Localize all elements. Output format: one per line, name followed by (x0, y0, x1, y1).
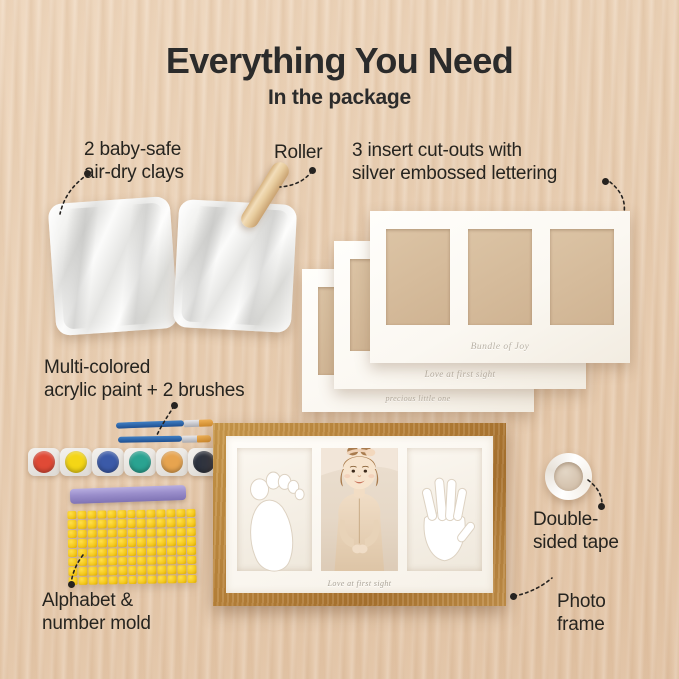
insert-emboss-text: Love at first sight (334, 369, 586, 379)
paint-brush-2 (118, 435, 214, 443)
double-sided-tape-roll (545, 453, 592, 500)
footprint-icon (237, 448, 312, 586)
mold-piece (137, 547, 146, 556)
mold-piece (188, 575, 197, 584)
mold-piece (88, 539, 97, 548)
mold-piece (88, 576, 97, 585)
mold-piece (128, 557, 137, 566)
mold-piece (157, 528, 166, 537)
brush-ferrule (184, 419, 200, 427)
mold-piece (108, 548, 117, 557)
mold-piece (177, 528, 186, 537)
mold-piece (87, 511, 96, 520)
mold-piece (137, 529, 146, 538)
mold-piece (98, 557, 107, 566)
mold-piece (107, 520, 116, 529)
mold-piece (187, 565, 196, 574)
mold-piece (127, 519, 136, 528)
mold-piece (187, 528, 196, 537)
leader-dot-paint (171, 402, 178, 409)
mold-piece (68, 548, 77, 557)
insert-window-left (386, 229, 450, 325)
mold-piece (167, 556, 176, 565)
mold-piece (147, 528, 156, 537)
mold-piece (148, 575, 157, 584)
mold-piece (68, 520, 77, 529)
mold-piece (167, 537, 176, 546)
mold-piece (108, 557, 117, 566)
mold-piece (177, 537, 186, 546)
baby-photo-illustration (321, 448, 398, 571)
mold-piece (158, 575, 167, 584)
mold-piece (187, 518, 196, 527)
insert-window-center (468, 229, 532, 325)
mold-piece (88, 548, 97, 557)
mold-piece (157, 556, 166, 565)
pot-well-teal (129, 451, 151, 473)
mold-piece (137, 538, 146, 547)
mold-piece (98, 539, 107, 548)
leader-dot-inserts (602, 178, 609, 185)
frame-caption: Love at first sight (226, 579, 493, 588)
mold-piece (147, 538, 156, 547)
mold-piece (138, 575, 147, 584)
label-photo-frame: Photo frame (557, 590, 606, 636)
mold-piece (67, 511, 76, 520)
mold-piece (167, 547, 176, 556)
mold-piece (138, 566, 147, 575)
package-contents-infographic: Everything You Need In the package 2 bab… (0, 0, 679, 679)
mold-piece (88, 557, 97, 566)
mold-piece (177, 518, 186, 527)
paint-pot-4 (124, 444, 156, 478)
brush-handle (116, 420, 184, 428)
mold-piece (157, 519, 166, 528)
paint-pot-5 (156, 444, 188, 478)
mold-piece (177, 547, 186, 556)
insert-cutout-top: Bundle of Joy (370, 211, 630, 363)
handprint-panel (407, 448, 482, 571)
frame-mat: Love at first sight (226, 436, 493, 593)
mold-piece (108, 576, 117, 585)
mold-piece (78, 558, 87, 567)
leader-line-frame (512, 572, 558, 602)
mold-piece (117, 519, 126, 528)
mold-piece (117, 538, 126, 547)
mold-piece (167, 528, 176, 537)
label-acrylic-paint: Multi-colored acrylic paint + 2 brushes (44, 356, 244, 402)
insert-emboss-text: precious little one (302, 394, 534, 403)
mold-piece (157, 509, 166, 518)
paint-pot-strip (28, 444, 220, 478)
leader-dot-alphabet (68, 581, 75, 588)
mold-piece (137, 510, 146, 519)
insert-window-right (550, 229, 614, 325)
baby-photo (321, 448, 398, 571)
mold-piece (168, 575, 177, 584)
mold-piece (117, 529, 126, 538)
page-subtitle: In the package (0, 86, 679, 110)
mold-piece (98, 548, 107, 557)
mold-piece (127, 529, 136, 538)
mold-piece (128, 576, 137, 585)
mold-piece (118, 576, 127, 585)
mold-piece (68, 567, 77, 576)
mold-piece (167, 509, 176, 518)
mold-piece (158, 566, 167, 575)
mold-piece (187, 546, 196, 555)
leader-dot-frame (510, 593, 517, 600)
mold-piece (98, 567, 107, 576)
mold-piece (68, 530, 77, 539)
mold-piece (98, 576, 107, 585)
mold-piece (68, 539, 77, 548)
mold-piece (137, 519, 146, 528)
mold-piece (78, 576, 87, 585)
mold-press-bar (70, 485, 186, 504)
mold-piece (127, 510, 136, 519)
pot-well-blue (97, 451, 119, 473)
pot-well-black (193, 451, 215, 473)
mold-piece (128, 566, 137, 575)
mold-piece (78, 539, 87, 548)
label-insert-cutouts: 3 insert cut-outs with silver embossed l… (352, 139, 557, 185)
handprint-icon (407, 448, 482, 586)
mold-piece (187, 556, 196, 565)
mold-piece (177, 556, 186, 565)
mold-piece (108, 538, 117, 547)
mold-piece (167, 519, 176, 528)
mold-piece (88, 567, 97, 576)
paint-brush-1 (116, 419, 212, 428)
mold-piece (176, 509, 185, 518)
mold-piece (157, 538, 166, 547)
mold-piece (107, 529, 116, 538)
leader-dot-roller (309, 167, 316, 174)
insert-emboss-text: Bundle of Joy (370, 342, 630, 352)
mold-piece (108, 567, 117, 576)
pot-well-yellow (65, 451, 87, 473)
leader-dot-clays (84, 170, 91, 177)
photo-frame: Love at first sight (213, 423, 506, 606)
mold-piece (168, 565, 177, 574)
mold-piece (78, 530, 87, 539)
mold-piece (147, 510, 156, 519)
mold-piece (88, 529, 97, 538)
mold-piece (117, 510, 126, 519)
mold-piece (148, 556, 157, 565)
mold-piece (78, 567, 87, 576)
mold-piece (78, 548, 87, 557)
paint-pot-3 (92, 444, 124, 478)
clay-pouch-left (48, 196, 179, 336)
mold-piece (118, 557, 127, 566)
mold-piece (178, 575, 187, 584)
label-air-dry-clays: 2 baby-safe air-dry clays (84, 138, 184, 184)
pot-well-orange (161, 451, 183, 473)
mold-piece (97, 520, 106, 529)
alphabet-number-mold (67, 509, 196, 585)
label-roller: Roller (274, 141, 322, 164)
mold-piece (107, 510, 116, 519)
mold-piece (147, 547, 156, 556)
label-alphabet-mold: Alphabet & number mold (42, 589, 151, 635)
mold-piece (77, 511, 86, 520)
mold-piece (186, 509, 195, 518)
mold-piece (77, 520, 86, 529)
mold-piece (97, 510, 106, 519)
brush-handle (118, 436, 182, 443)
mold-piece (68, 558, 77, 567)
footprint-panel (237, 448, 312, 571)
mold-piece (87, 520, 96, 529)
mold-piece (177, 565, 186, 574)
mold-piece (157, 547, 166, 556)
label-double-sided-tape: Double- sided tape (533, 508, 619, 554)
paint-pot-1 (28, 444, 60, 478)
page-title: Everything You Need (0, 40, 679, 82)
mold-piece (138, 557, 147, 566)
brush-bristles (199, 419, 213, 426)
mold-piece (127, 538, 136, 547)
paint-pot-2 (60, 444, 92, 478)
mold-piece (148, 566, 157, 575)
mold-piece (187, 537, 196, 546)
mold-piece (118, 566, 127, 575)
brush-bristles (197, 435, 211, 442)
mold-piece (128, 547, 137, 556)
mold-piece (118, 548, 127, 557)
leader-dot-tape (598, 503, 605, 510)
mold-piece (97, 529, 106, 538)
pot-well-red (33, 451, 55, 473)
mold-piece (147, 519, 156, 528)
clay-pouch-right (173, 199, 298, 333)
brush-ferrule (182, 435, 198, 442)
